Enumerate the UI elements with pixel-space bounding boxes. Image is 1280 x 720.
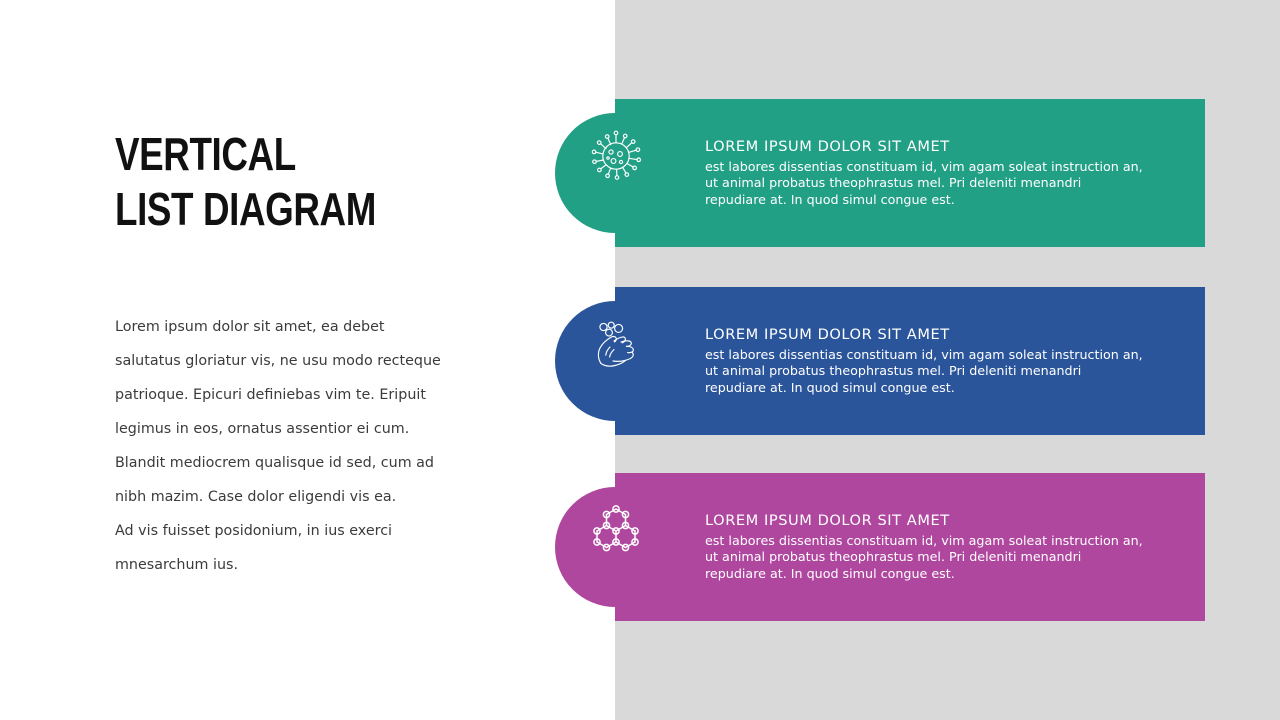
list-item-text: LOREM IPSUM DOLOR SIT AMET est labores d…	[705, 325, 1145, 396]
page-title: VERTICAL LIST DIAGRAM	[115, 127, 459, 237]
hand-washing-icon	[588, 315, 644, 371]
list-item-heading: LOREM IPSUM DOLOR SIT AMET	[705, 325, 1145, 345]
list-item-body: est labores dissentias constituam id, vi…	[705, 159, 1143, 208]
list-item-text: LOREM IPSUM DOLOR SIT AMET est labores d…	[705, 137, 1145, 208]
left-text-column: VERTICAL LIST DIAGRAM Lorem ipsum dolor …	[0, 0, 615, 720]
molecule-icon	[588, 501, 644, 557]
virus-icon	[588, 127, 644, 183]
list-item-body: est labores dissentias constituam id, vi…	[705, 347, 1143, 396]
slide-canvas: VERTICAL LIST DIAGRAM Lorem ipsum dolor …	[0, 0, 1280, 720]
list-item-body: est labores dissentias constituam id, vi…	[705, 533, 1143, 582]
list-item-text: LOREM IPSUM DOLOR SIT AMET est labores d…	[705, 511, 1145, 582]
list-item-heading: LOREM IPSUM DOLOR SIT AMET	[705, 511, 1145, 531]
intro-paragraph: Lorem ipsum dolor sit amet, ea debet sal…	[115, 310, 445, 582]
list-item-heading: LOREM IPSUM DOLOR SIT AMET	[705, 137, 1145, 157]
